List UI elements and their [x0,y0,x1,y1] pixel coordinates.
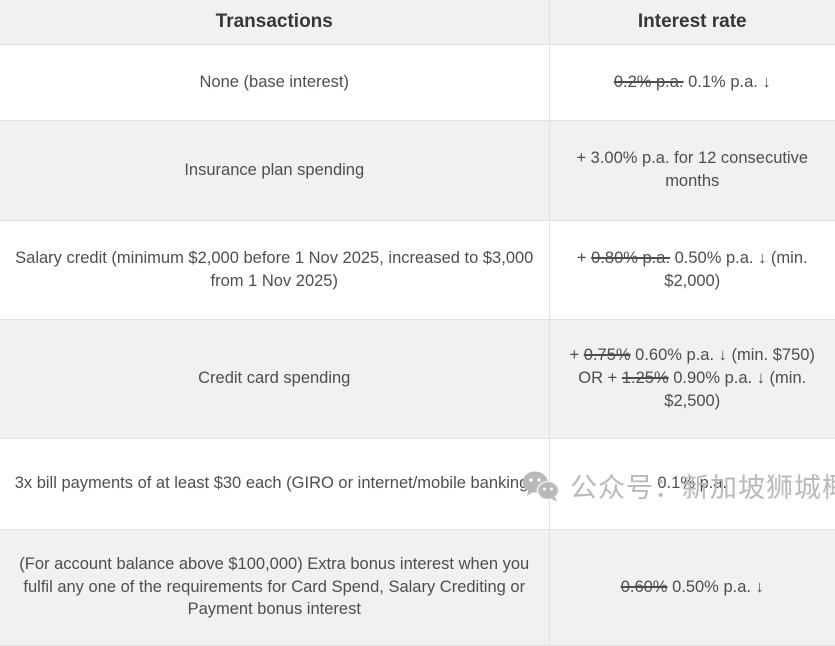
down-arrow-icon: ↓ [756,578,764,596]
rate-prefix: + [577,249,591,267]
cell-transaction: None (base interest) [0,44,549,120]
cell-interest-rate: + 0.75% 0.60% p.a. ↓ (min. $750) OR + 1.… [549,319,835,438]
old-rate-strikethrough-2: 1.25% [622,369,669,387]
table-header-row: Transactions Interest rate [0,0,835,44]
column-header-transactions: Transactions [0,0,549,44]
cell-interest-rate: + 0.80% p.a. 0.50% p.a. ↓ (min. $2,000) [549,220,835,319]
cell-interest-rate: 0.60% 0.50% p.a. ↓ [549,529,835,645]
old-rate-strikethrough: 0.2% p.a. [614,73,684,91]
cell-interest-rate: + 3.00% p.a. for 12 consecutive months [549,120,835,220]
table-row: (For account balance above $100,000) Ext… [0,529,835,645]
down-arrow-icon: ↓ [719,346,727,364]
table-row: Insurance plan spending + 3.00% p.a. for… [0,120,835,220]
new-rate: 0.1% p.a. [688,73,758,91]
old-rate-strikethrough: 0.80% p.a. [591,249,670,267]
old-rate-strikethrough: 0.75% [584,346,631,364]
cell-transaction: Insurance plan spending [0,120,549,220]
table-row: 3x bill payments of at least $30 each (G… [0,438,835,529]
cell-transaction: Salary credit (minimum $2,000 before 1 N… [0,220,549,319]
cell-transaction: 3x bill payments of at least $30 each (G… [0,438,549,529]
column-header-interest-rate: Interest rate [549,0,835,44]
cell-interest-rate: 0.2% p.a. 0.1% p.a. ↓ [549,44,835,120]
down-arrow-icon: ↓ [762,73,770,91]
new-rate: 0.50% p.a. [670,249,758,267]
rate-prefix: + [570,346,584,364]
new-rate-2: 0.90% p.a. [669,369,757,387]
cell-interest-rate: 0.1% p.a. [549,438,835,529]
interest-rate-table: Transactions Interest rate None (base in… [0,0,835,646]
table-row: None (base interest) 0.2% p.a. 0.1% p.a.… [0,44,835,120]
table-row: Credit card spending + 0.75% 0.60% p.a. … [0,319,835,438]
table-row: Salary credit (minimum $2,000 before 1 N… [0,220,835,319]
old-rate-strikethrough: 0.60% [621,578,668,596]
down-arrow-icon-2: ↓ [757,369,765,387]
new-rate: 0.60% p.a. [631,346,719,364]
new-rate: 0.50% p.a. [667,578,755,596]
cell-transaction: (For account balance above $100,000) Ext… [0,529,549,645]
cell-transaction: Credit card spending [0,319,549,438]
